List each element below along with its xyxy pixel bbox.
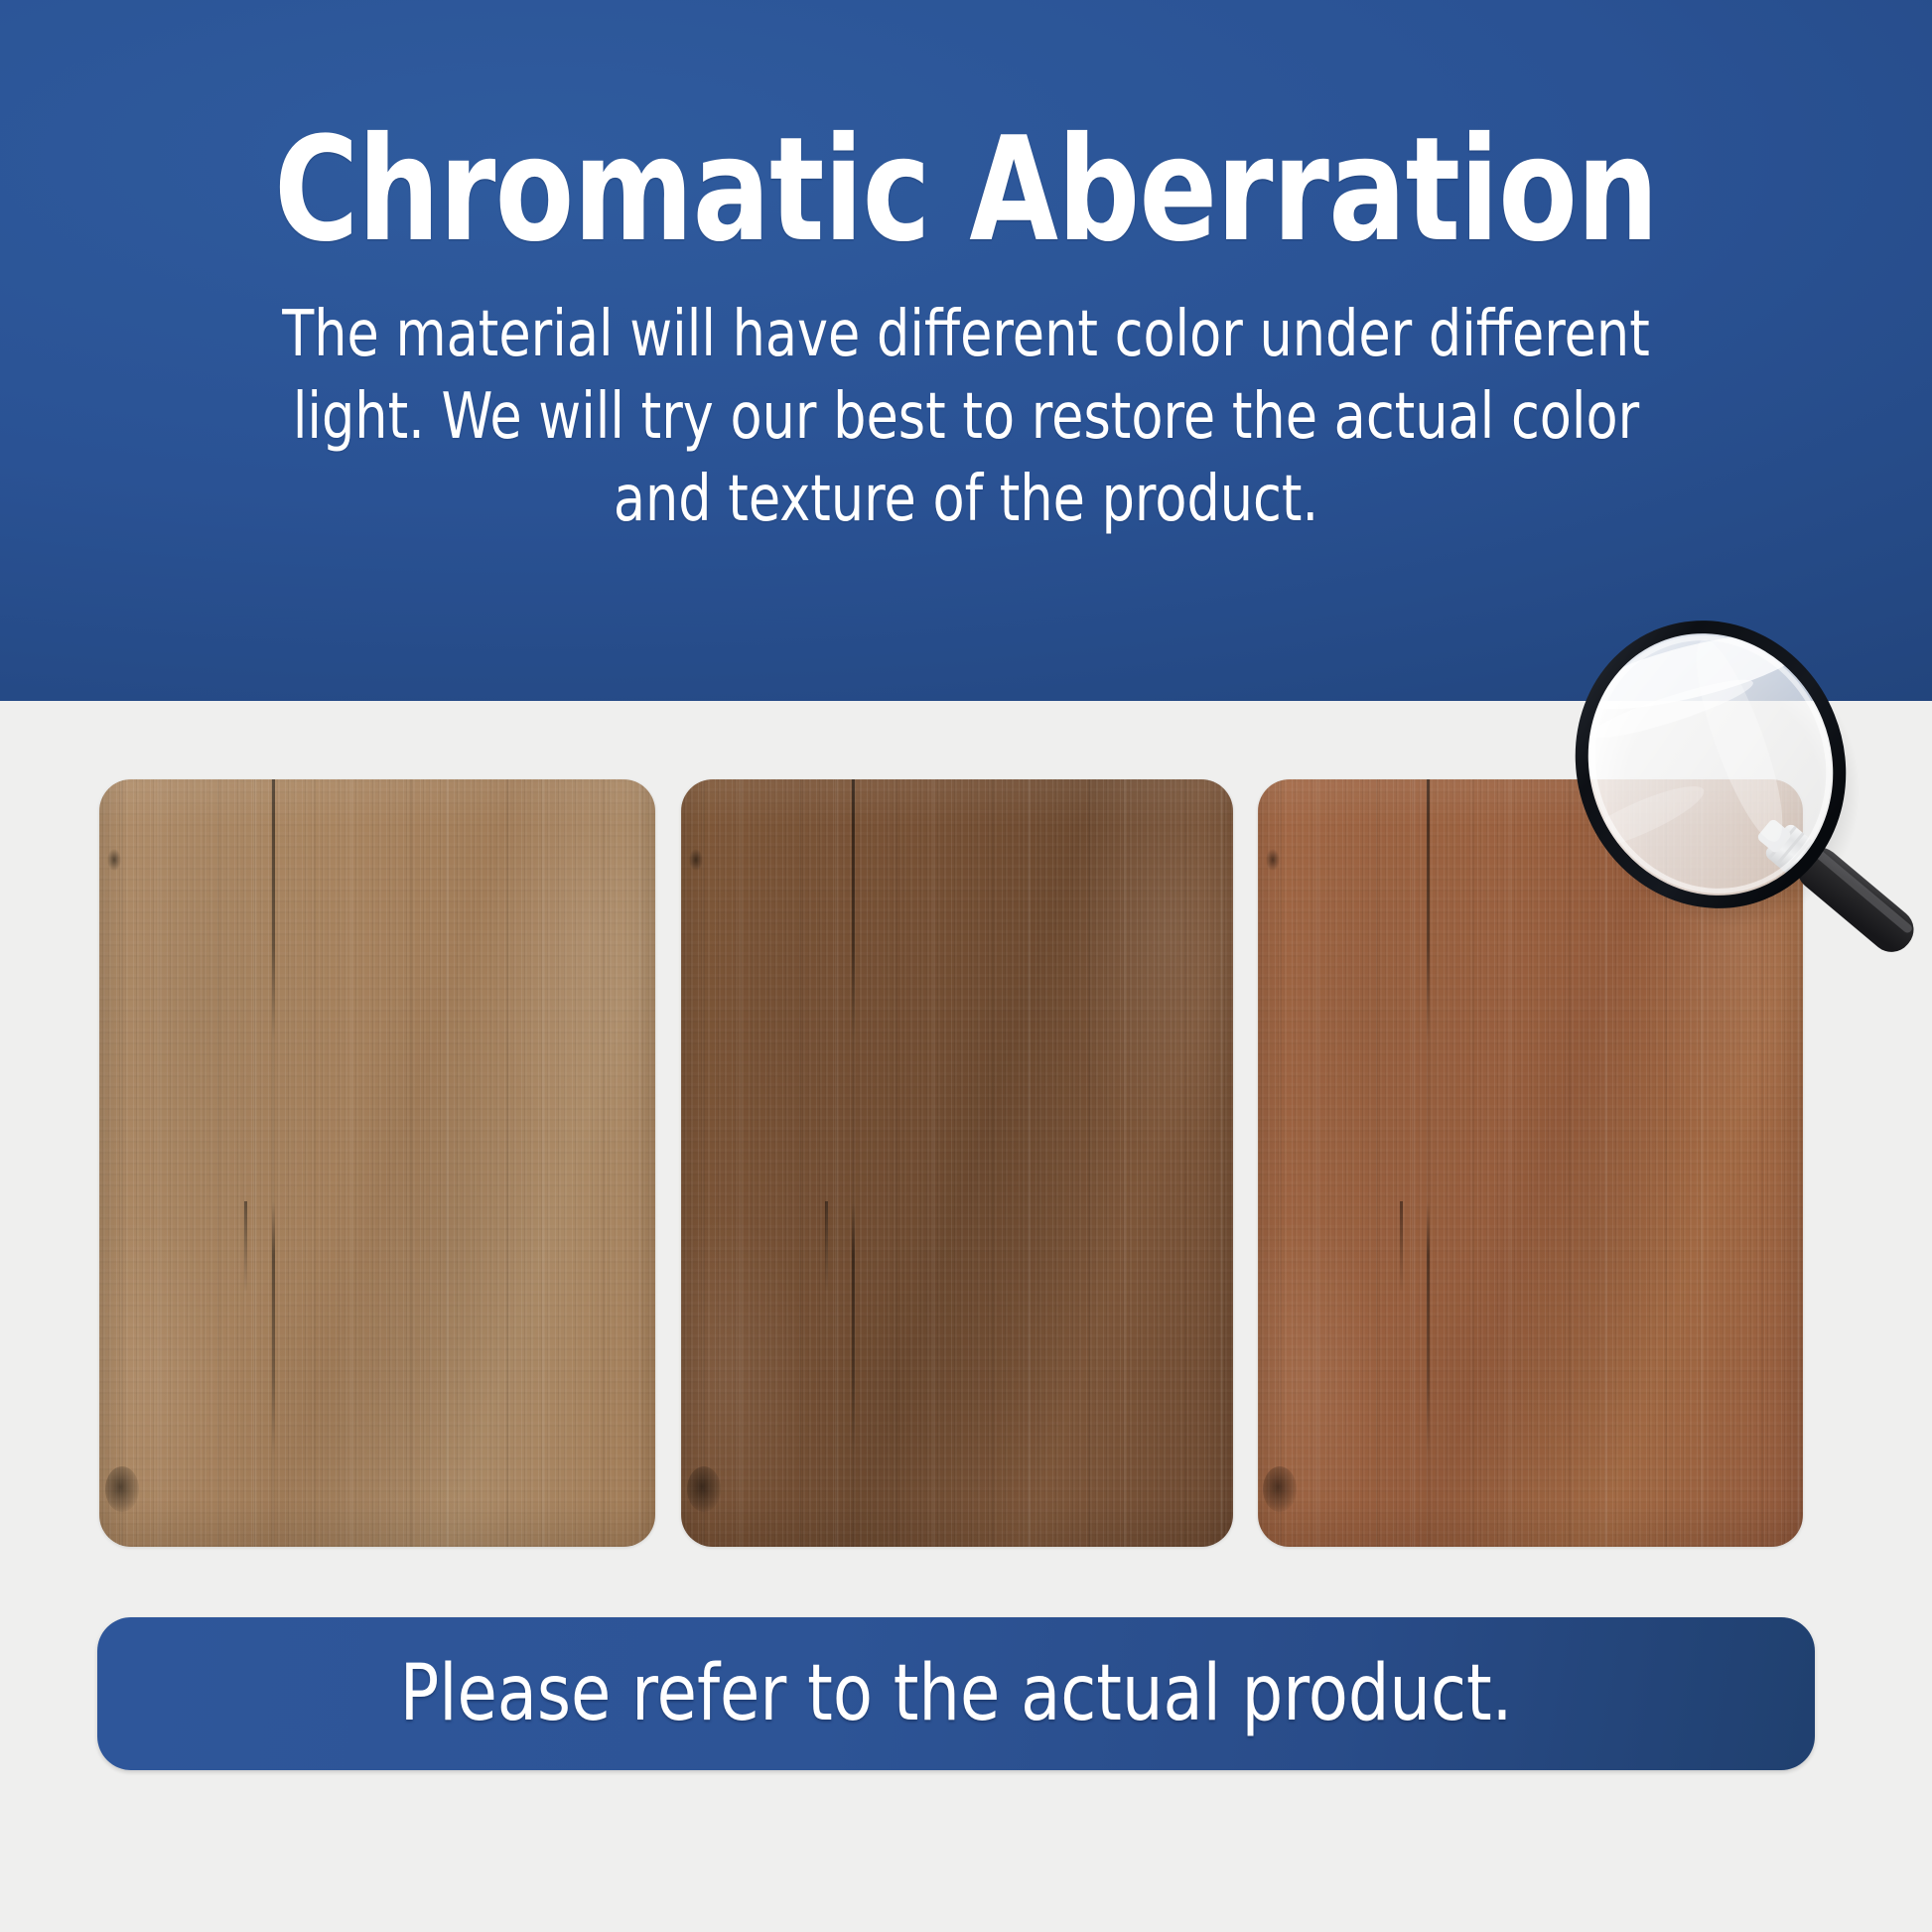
swatch-gallery: [99, 779, 1803, 1547]
swatch-light-oak[interactable]: [99, 779, 655, 1547]
promo-banner-page: Chromatic Aberration The material will h…: [0, 0, 1932, 1932]
page-subtitle: The material will have different color u…: [174, 294, 1758, 542]
cta-label: Please refer to the actual product.: [400, 1655, 1513, 1732]
wood-texture-warm-cherry: [1258, 779, 1803, 1547]
panel-edge-shading: [681, 779, 1233, 1547]
wood-texture-medium-walnut: [681, 779, 1233, 1547]
panel-edge-shading: [99, 779, 655, 1547]
swatch-warm-cherry[interactable]: [1258, 779, 1803, 1547]
swatch-medium-walnut[interactable]: [681, 779, 1233, 1547]
refer-to-actual-product-button[interactable]: Please refer to the actual product.: [97, 1617, 1815, 1770]
page-title: Chromatic Aberration: [194, 117, 1739, 264]
header-content: Chromatic Aberration The material will h…: [0, 0, 1932, 541]
magnifier-handle: [1789, 839, 1922, 960]
header-banner: Chromatic Aberration The material will h…: [0, 0, 1932, 701]
panel-edge-shading: [1258, 779, 1803, 1547]
wood-texture-light-oak: [99, 779, 655, 1547]
